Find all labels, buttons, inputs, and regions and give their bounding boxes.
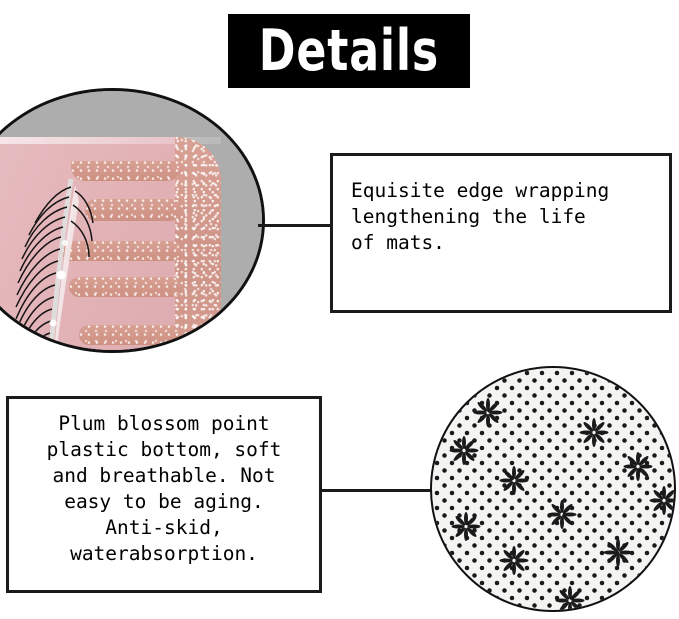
page-title: Details xyxy=(259,22,439,79)
glitter-drip xyxy=(79,325,181,345)
callout-line: Equisite edge wrapping xyxy=(351,178,659,204)
dot-grid-pattern xyxy=(430,366,676,612)
plum-blossom-motif xyxy=(446,506,486,546)
plum-blossom-motif xyxy=(494,460,534,500)
mat-corner-photo: Hello xyxy=(0,88,265,353)
plum-blossom-motif xyxy=(644,480,676,520)
connector-line-bottom xyxy=(320,489,434,492)
glitter-drip xyxy=(85,199,181,221)
sparkle-icon xyxy=(9,333,13,337)
glitter-drip xyxy=(61,241,181,261)
callout-line: and breathable. Not xyxy=(17,463,311,489)
plum-blossom-motif xyxy=(550,580,590,612)
callout-line: easy to be aging. xyxy=(17,489,311,515)
callout-line: plastic bottom, soft xyxy=(17,437,311,463)
callout-line: waterabsorption. xyxy=(17,541,311,567)
glitter-drip xyxy=(69,277,181,297)
plum-blossom-motif xyxy=(494,540,534,580)
callout-line: Anti-skid, xyxy=(17,515,311,541)
plum-blossom-motif xyxy=(444,430,484,470)
bath-mat-corner: Hello xyxy=(0,137,221,353)
connector-line-top xyxy=(258,224,334,227)
callout-line: of mats. xyxy=(351,230,659,256)
glitter-drip xyxy=(71,161,181,181)
callout-line: Plum blossom point xyxy=(17,411,311,437)
details-banner: Details xyxy=(228,14,470,88)
glitter-edge xyxy=(175,137,221,353)
plum-blossom-motif xyxy=(598,532,638,572)
plum-blossom-motif xyxy=(542,494,582,534)
plum-blossom-motif xyxy=(574,412,614,452)
callout-line: lengthening the life xyxy=(351,204,659,230)
plum-blossom-motif xyxy=(468,392,508,432)
edge-wrapping-callout: Equisite edge wrapping lengthening the l… xyxy=(330,153,672,313)
bottom-features-callout: Plum blossom point plastic bottom, soft … xyxy=(6,396,322,593)
backing-photo xyxy=(430,366,676,612)
